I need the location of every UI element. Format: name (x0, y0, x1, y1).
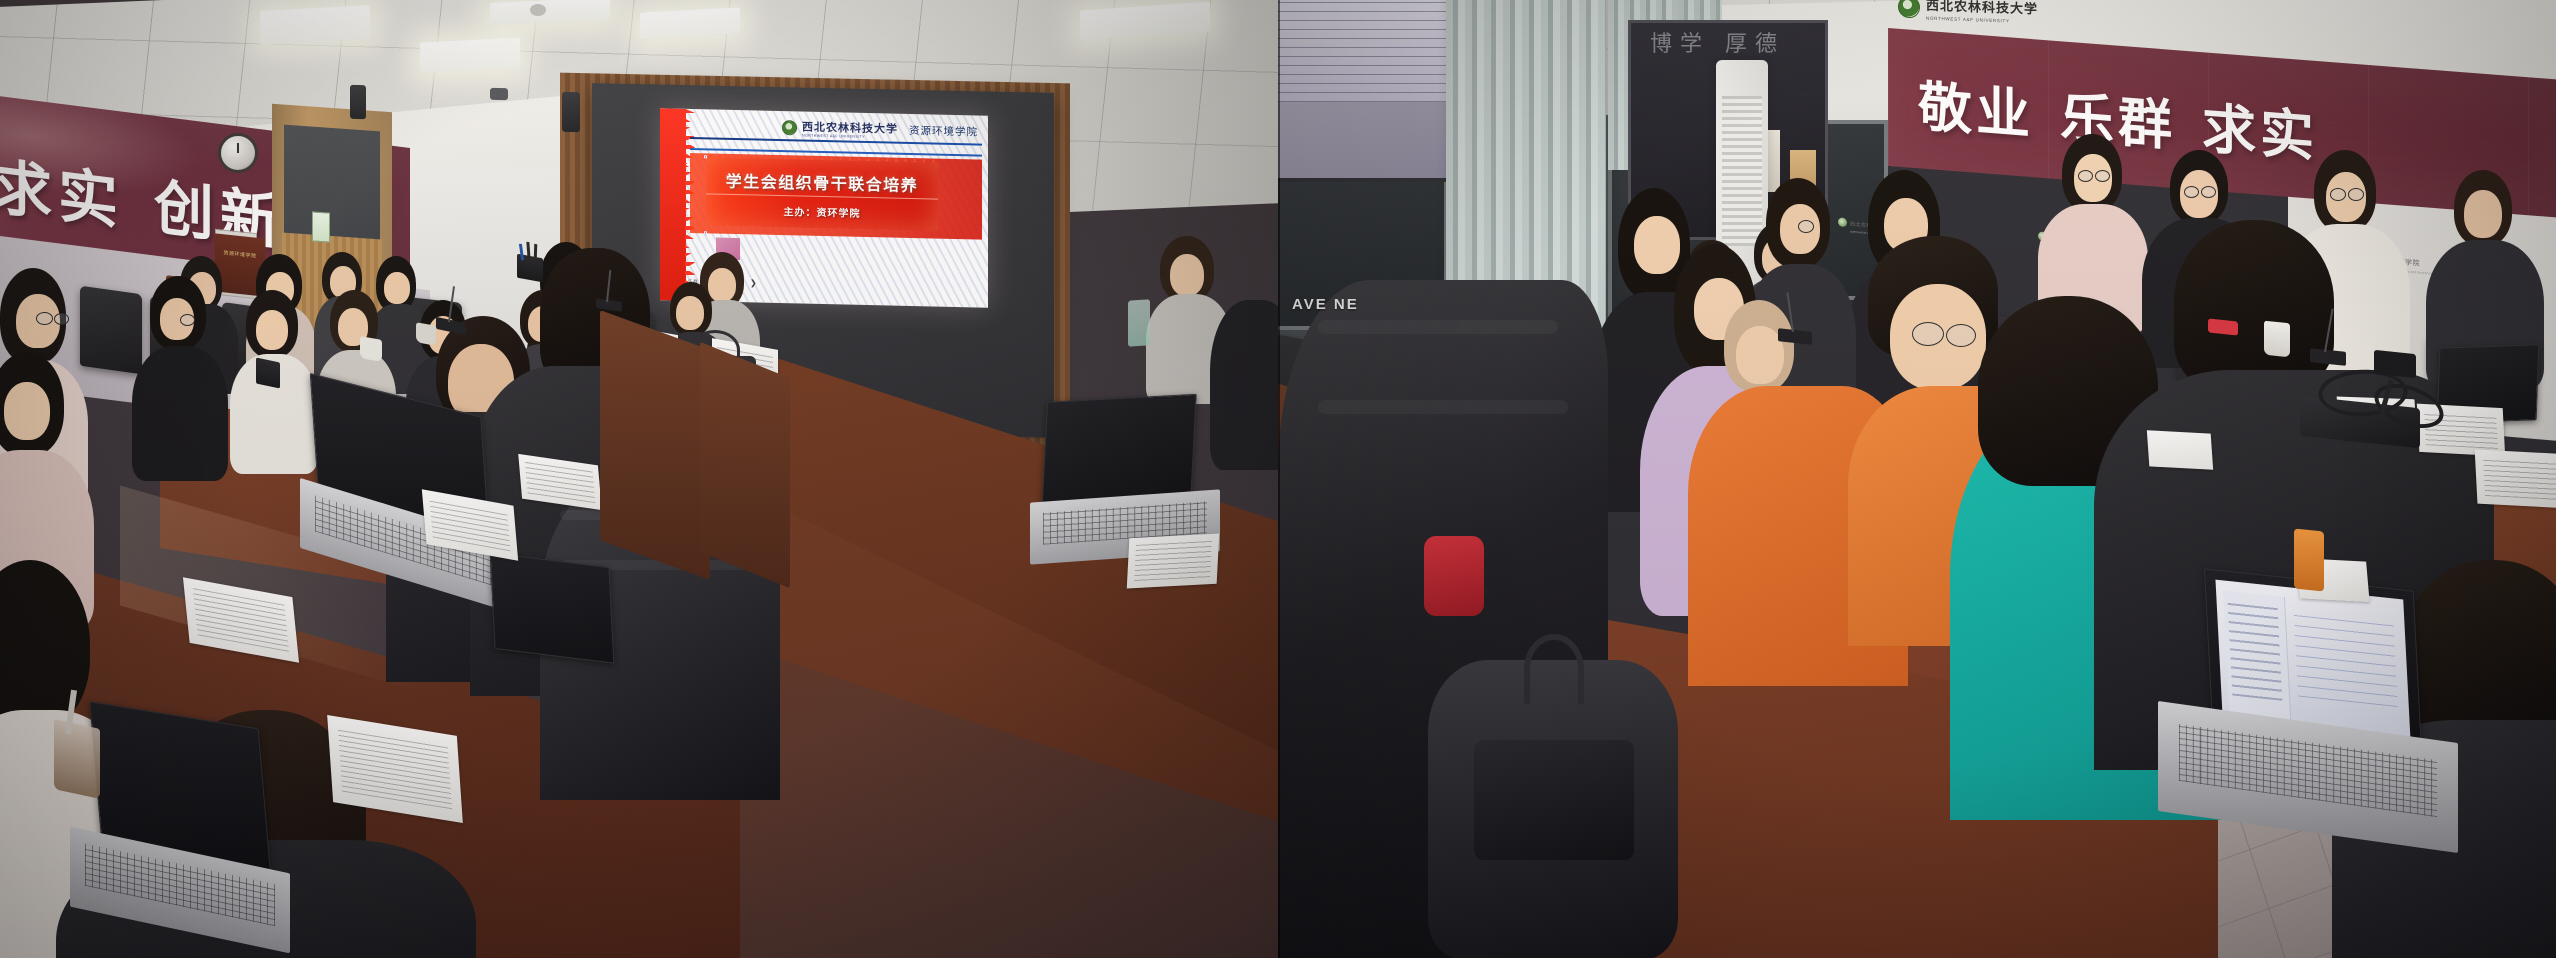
doorway-sign-text: 博学 厚德 (1650, 26, 1810, 58)
wall-speaker-icon (562, 92, 580, 132)
ceiling-speaker-icon (350, 85, 366, 120)
ceiling-light (640, 7, 740, 38)
door-glass (284, 125, 380, 252)
ceiling-sensor-icon (530, 4, 546, 16)
wall-clock-icon (218, 133, 258, 173)
chair-wood-arm[interactable] (700, 342, 790, 588)
university-seal-icon (1898, 0, 1920, 18)
slide-handle-icon (704, 231, 707, 234)
jacket-print-text: AVE NE (1292, 296, 1359, 313)
beverage-cup (54, 719, 100, 799)
ceiling-light (260, 5, 370, 45)
jacket-seam (1318, 320, 1558, 334)
right-photo-panel: 博学 厚德 敬业乐群求实 西北农林科技大学 NORTHWEST A&F UNIV… (1278, 0, 2556, 958)
printed-document (2147, 430, 2213, 470)
university-seal-icon (1838, 217, 1847, 227)
marker-pen-icon (2208, 318, 2238, 335)
bag-strap (1524, 634, 1584, 704)
banner-word-1: 敬业 (1918, 74, 2034, 147)
photo-collage: 求实创新 西北农林科技大学 NORTHWEST A&F UNIVE (0, 0, 2556, 958)
left-photo-panel: 求实创新 西北农林科技大学 NORTHWEST A&F UNIVE (0, 0, 1278, 958)
pen-icon (534, 244, 538, 261)
wall-display (1278, 0, 1468, 182)
printed-document (1127, 534, 1219, 589)
backpack-pocket (1474, 740, 1634, 860)
slide-red-sidebar (660, 108, 686, 301)
chair-wood-arm[interactable] (600, 310, 710, 580)
banner-word-3: 求实 (2202, 96, 2318, 169)
beverage-can (2294, 528, 2324, 591)
ceiling-light (420, 37, 520, 72)
slide-college-name: 资源环境学院 (909, 122, 978, 139)
slide-handle-icon (704, 155, 707, 158)
collage-seam (1278, 0, 1280, 958)
jacket-seam (1318, 400, 1568, 414)
slide-footer-arrow-icon: ❯ (750, 278, 757, 287)
paper-cup (416, 322, 436, 346)
printed-document (2475, 449, 2556, 508)
laptop-screen[interactable] (490, 552, 615, 664)
red-garment (1424, 536, 1484, 616)
paper-cup (2264, 321, 2290, 358)
pen-holder (256, 357, 280, 388)
university-name-cn: 西北农林科技大学 (1926, 0, 2038, 18)
projector-camera-icon (490, 88, 508, 100)
paper-cup (360, 336, 382, 362)
smartphone[interactable] (2374, 350, 2416, 378)
display-content (1278, 0, 1458, 102)
air-conditioner-vent (1722, 96, 1762, 246)
banner-word-1: 求实 (0, 152, 124, 239)
chair[interactable] (80, 286, 142, 375)
university-seal-icon (782, 120, 797, 135)
exit-sign-icon (312, 211, 330, 242)
water-bottle (1128, 299, 1150, 347)
